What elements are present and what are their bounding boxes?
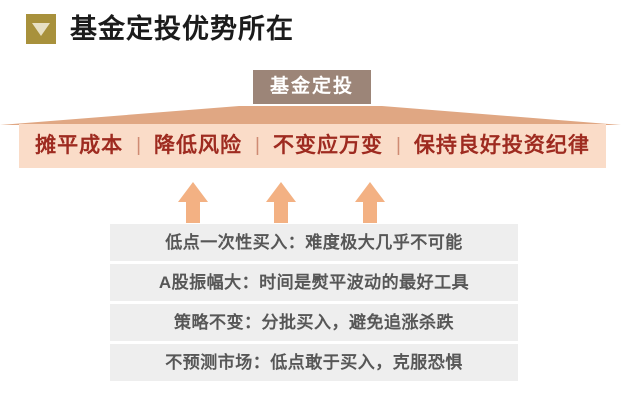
up-arrow-head-2 [266, 182, 296, 202]
reason-text-4: 不预测市场：低点敢于买入，克服恐惧 [165, 353, 463, 373]
benefit-item-4: 保持良好投资纪律 [414, 134, 590, 158]
benefit-item-3: 不变应万变 [273, 134, 383, 158]
up-arrow-shaft-2 [274, 202, 288, 223]
up-arrow-icon-2 [266, 182, 296, 223]
benefits-banner-items: 摊平成本 | 降低风险 | 不变应万变 | 保持良好投资纪律 [35, 134, 590, 158]
reason-text-2: A股振幅大：时间是熨平波动的最好工具 [159, 273, 469, 293]
triangle-down-glyph [32, 23, 50, 36]
reason-row-3: 策略不变：分批买入，避免追涨杀跌 [110, 304, 518, 341]
benefit-separator-2: | [242, 134, 273, 158]
infographic-canvas: 基金定投优势所在 基金定投 摊平成本 | 降低风险 | 不变应万变 | 保持良好… [0, 0, 621, 418]
up-arrow-shaft-3 [363, 202, 377, 223]
page-title: 基金定投优势所在 [26, 14, 294, 44]
funnel-top-label-box: 基金定投 [253, 70, 371, 104]
reason-text-3: 策略不变：分批买入，避免追涨杀跌 [174, 313, 454, 333]
triangle-down-icon [26, 14, 56, 44]
benefit-item-1: 摊平成本 [35, 134, 123, 158]
funnel-top-label-text: 基金定投 [270, 76, 354, 98]
up-arrow-head-1 [178, 182, 208, 202]
page-title-text: 基金定投优势所在 [70, 14, 294, 44]
funnel-trapezoid-shape [0, 106, 621, 125]
up-arrow-shaft-1 [186, 202, 200, 223]
reason-row-4: 不预测市场：低点敢于买入，克服恐惧 [110, 344, 518, 381]
reason-text-1: 低点一次性买入：难度极大几乎不可能 [165, 233, 463, 253]
benefit-separator-3: | [383, 134, 414, 158]
up-arrow-head-3 [355, 182, 385, 202]
reason-list: 低点一次性买入：难度极大几乎不可能 A股振幅大：时间是熨平波动的最好工具 策略不… [110, 224, 518, 381]
benefits-banner: 摊平成本 | 降低风险 | 不变应万变 | 保持良好投资纪律 [19, 124, 606, 168]
benefit-separator-1: | [123, 134, 154, 158]
up-arrow-icon-1 [178, 182, 208, 223]
benefit-item-2: 降低风险 [154, 134, 242, 158]
reason-row-2: A股振幅大：时间是熨平波动的最好工具 [110, 264, 518, 301]
reason-row-1: 低点一次性买入：难度极大几乎不可能 [110, 224, 518, 261]
up-arrow-icon-3 [355, 182, 385, 223]
